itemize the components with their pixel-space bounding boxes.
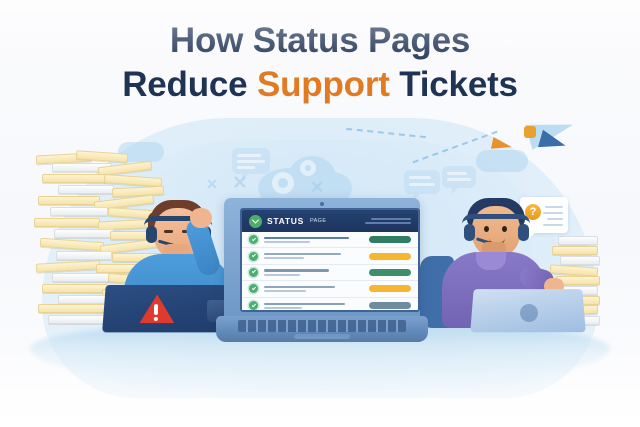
warning-dot — [154, 317, 158, 321]
title-word-support: Support — [257, 65, 399, 104]
keyboard[interactable] — [238, 320, 406, 332]
status-page-brand-suffix: PAGE — [310, 218, 326, 224]
x-mark-icon: ✕ — [232, 172, 248, 195]
green-check-icon — [249, 284, 258, 293]
eye — [502, 226, 507, 232]
status-badge — [369, 253, 411, 260]
service-label — [264, 286, 363, 292]
service-label — [264, 303, 363, 309]
headset-earcup — [518, 224, 529, 241]
collar — [476, 252, 506, 270]
status-badge — [369, 302, 411, 309]
illustration-canvas: ✕ ✕ ✕ — [0, 0, 640, 427]
service-label — [264, 269, 363, 275]
laptop-lid: STATUS PAGE — [224, 198, 420, 322]
x-mark-icon: ✕ — [310, 178, 324, 198]
trackpad[interactable] — [294, 334, 350, 339]
webcam-icon — [320, 202, 324, 206]
headset-earcup — [146, 226, 157, 243]
laptop-logo — [520, 304, 538, 322]
center-laptop: STATUS PAGE — [216, 198, 428, 348]
gear-icon — [272, 172, 294, 194]
header-meta-line — [371, 218, 411, 220]
service-label — [264, 253, 363, 259]
status-page-screen[interactable]: STATUS PAGE — [240, 208, 420, 312]
status-row[interactable] — [242, 265, 418, 281]
title-line-1: How Status Pages — [0, 22, 640, 60]
title-line-2: Reduce Support Tickets — [0, 66, 640, 104]
title-word-tickets: Tickets — [399, 65, 518, 104]
hand-on-head — [190, 208, 212, 228]
page-title: How Status Pages Reduce Support Tickets — [0, 22, 640, 104]
eye — [164, 230, 173, 233]
status-badge — [369, 269, 411, 276]
green-check-icon — [249, 268, 258, 277]
cloud-icon — [476, 150, 528, 172]
warning-exclamation — [154, 304, 158, 315]
title-word-reduce: Reduce — [122, 65, 257, 104]
status-page-brand: STATUS — [267, 216, 304, 226]
happy-agent — [436, 196, 560, 328]
gear-icon — [300, 160, 316, 176]
x-mark-icon: ✕ — [206, 176, 218, 193]
status-row[interactable] — [242, 281, 418, 297]
status-row[interactable] — [242, 232, 418, 248]
status-page-header: STATUS PAGE — [242, 210, 418, 232]
orange-badge-icon — [524, 126, 536, 138]
header-meta — [365, 218, 411, 224]
green-check-icon — [249, 301, 258, 310]
check-circle-icon — [249, 215, 262, 228]
status-badge — [369, 285, 411, 292]
green-check-icon — [249, 252, 258, 261]
green-check-icon — [249, 235, 258, 244]
status-badge — [369, 236, 411, 243]
status-row[interactable] — [242, 298, 418, 312]
headset-earcup — [464, 224, 475, 241]
headset-icon — [462, 214, 530, 224]
eye — [484, 226, 489, 232]
status-row[interactable] — [242, 248, 418, 264]
header-meta-line — [365, 222, 411, 224]
status-page-rows — [242, 232, 418, 312]
service-label — [264, 237, 363, 243]
